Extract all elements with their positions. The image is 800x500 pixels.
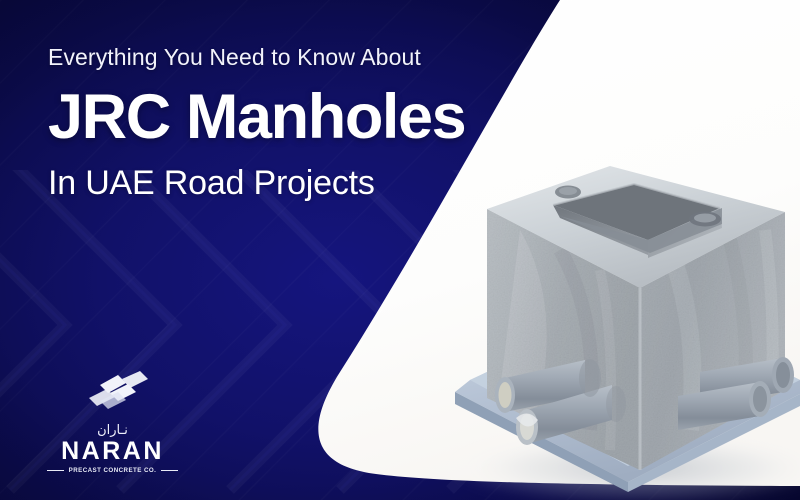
pvc-pipe-left-lower <box>516 385 612 445</box>
logo-rule-left <box>47 470 64 472</box>
naran-logo-mark-icon <box>40 369 185 421</box>
naran-logo-tagline: PRECAST CONCRETE CO. <box>69 467 157 474</box>
naran-logo-wordmark: NARAN <box>40 438 185 464</box>
naran-logo-arabic: نـاران <box>40 424 185 437</box>
logo-rule-right <box>161 470 178 472</box>
hero-copy: Everything You Need to Know About JRC Ma… <box>48 44 568 203</box>
hero-headline: JRC Manholes <box>48 85 568 149</box>
pvc-pipe-right-upper <box>700 357 794 406</box>
hero-subline: In UAE Road Projects <box>48 165 568 202</box>
lifting-anchor-right <box>689 212 721 227</box>
naran-logo[interactable]: نـاران NARAN PRECAST CONCRETE CO. <box>40 369 185 474</box>
banner-hero: Everything You Need to Know About JRC Ma… <box>0 0 800 500</box>
pvc-pipe-right-lower <box>678 381 771 430</box>
pvc-pipe-left-upper <box>495 360 585 413</box>
naran-logo-tagline-row: PRECAST CONCRETE CO. <box>40 467 185 474</box>
hero-eyebrow: Everything You Need to Know About <box>48 44 568 71</box>
manhole-base-slab <box>455 300 800 492</box>
